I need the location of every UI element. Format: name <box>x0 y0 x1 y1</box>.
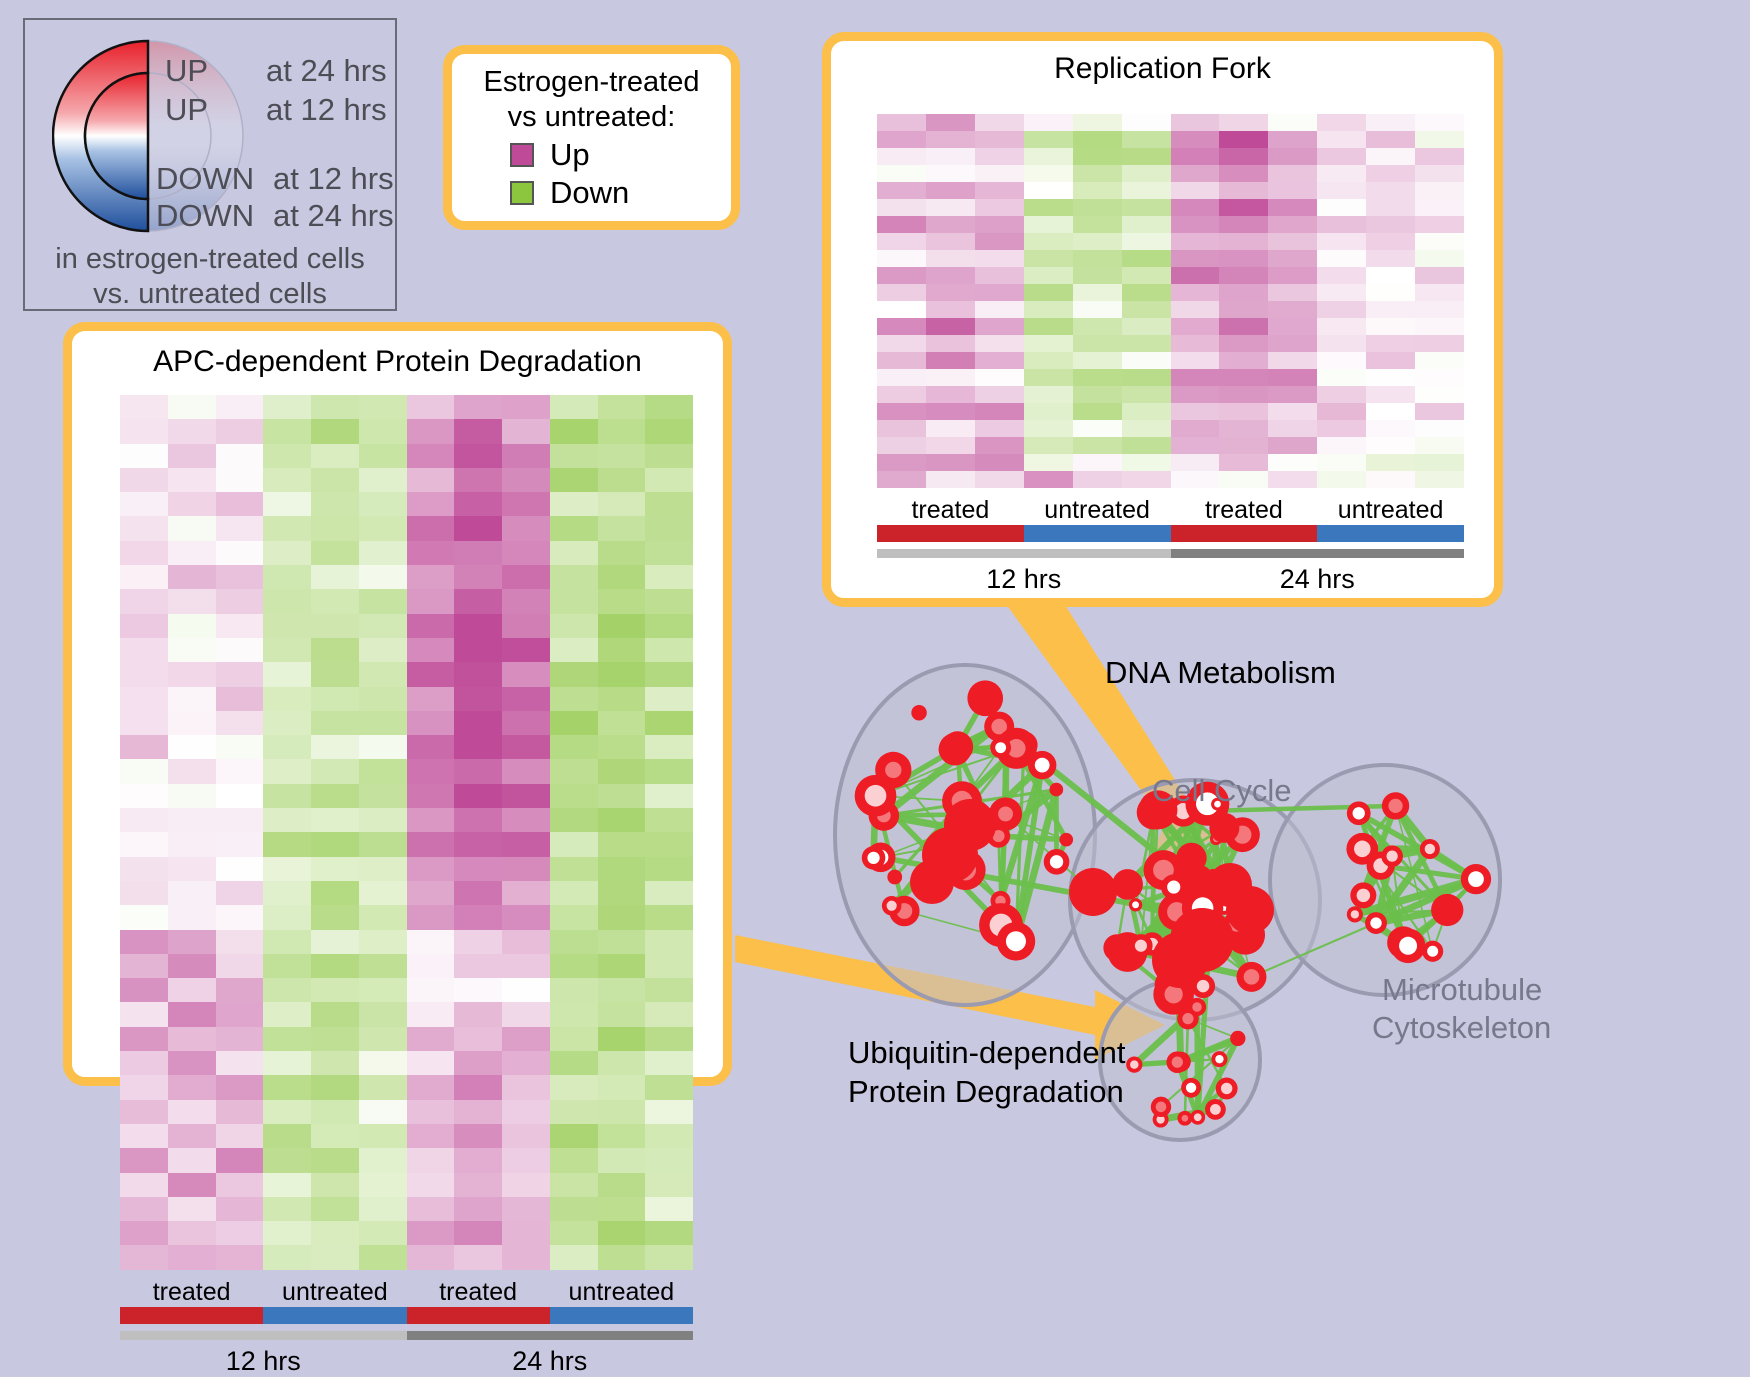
heatmap-cell <box>168 905 216 929</box>
heatmap-cell <box>168 808 216 832</box>
network-node[interactable] <box>911 705 926 720</box>
heatmap-cell <box>1366 199 1415 216</box>
heatmap-cell <box>645 881 693 905</box>
heatmap-cell <box>311 1173 359 1197</box>
legend-title-line2: vs untreated: <box>452 100 731 135</box>
heatmap-cell <box>1219 267 1268 284</box>
heatmap-cell <box>1268 369 1317 386</box>
heatmap-cell <box>263 516 311 540</box>
heatmap-cell <box>1317 454 1366 471</box>
heatmap-cell <box>645 1051 693 1075</box>
network-node[interactable] <box>1209 813 1239 843</box>
heatmap-cell <box>311 492 359 516</box>
heatmap-cell <box>550 1002 598 1026</box>
heatmap-row <box>120 905 693 929</box>
network-node[interactable] <box>1365 912 1387 934</box>
heatmap-cell <box>311 784 359 808</box>
heatmap-cell <box>263 614 311 638</box>
heatmap-cell <box>1024 352 1073 369</box>
network-node[interactable] <box>1181 1078 1201 1098</box>
heatmap-cell <box>454 492 502 516</box>
heatmap-cell <box>550 978 598 1002</box>
heatmap-cell <box>645 492 693 516</box>
heatmap-cell <box>502 759 550 783</box>
heatmap-cell <box>407 492 455 516</box>
heatmap-cell <box>1171 335 1220 352</box>
network-node[interactable] <box>862 846 886 870</box>
heatmap-cell <box>877 233 926 250</box>
heatmap-cell <box>502 468 550 492</box>
heatmap-cell <box>502 662 550 686</box>
heatmap-cell <box>120 1075 168 1099</box>
network-diagram: DNA Metabolism Cell Cycle Microtubule Cy… <box>760 610 1750 1279</box>
heatmap-cell <box>1268 148 1317 165</box>
heatmap-cell <box>263 687 311 711</box>
heatmap-cell <box>1073 301 1122 318</box>
network-node[interactable] <box>1382 792 1409 819</box>
heatmap-cell <box>598 857 646 881</box>
heatmap-cell <box>359 1245 407 1269</box>
network-node[interactable] <box>997 922 1036 961</box>
heatmap-cell <box>1317 352 1366 369</box>
heatmap-cell <box>311 832 359 856</box>
network-node[interactable] <box>939 733 972 766</box>
network-node[interactable] <box>1049 783 1063 797</box>
network-node[interactable] <box>1347 801 1371 825</box>
heatmap-row <box>877 131 1464 148</box>
heatmap-cell <box>1317 114 1366 131</box>
heatmap-cell <box>598 1197 646 1221</box>
heatmap-cell <box>645 1221 693 1245</box>
heatmap-cell <box>975 148 1024 165</box>
heatmap-cell <box>263 1148 311 1172</box>
heatmap-cell <box>645 1100 693 1124</box>
heatmap-cell <box>359 468 407 492</box>
color-key-footer-line1: in estrogen-treated cells <box>25 242 395 277</box>
heatmap-cell <box>168 1100 216 1124</box>
network-node[interactable] <box>1069 868 1117 916</box>
heatmap-cell <box>645 444 693 468</box>
heatmap-cell <box>216 784 264 808</box>
heatmap-cell <box>1317 250 1366 267</box>
heatmap-cell <box>645 1002 693 1026</box>
heatmap-cell <box>454 1173 502 1197</box>
network-node[interactable] <box>1216 1077 1238 1099</box>
heatmap-cell <box>407 1075 455 1099</box>
heatmap-cell <box>1415 352 1464 369</box>
heatmap-cell <box>1268 284 1317 301</box>
heatmap-cell <box>502 954 550 978</box>
heatmap-cell <box>359 1124 407 1148</box>
network-node[interactable] <box>1461 864 1491 894</box>
heatmap-cell <box>877 318 926 335</box>
heatmap-cell <box>120 735 168 759</box>
heatmap-cell <box>311 419 359 443</box>
heatmap-row <box>120 589 693 613</box>
network-node[interactable] <box>1059 833 1073 847</box>
heatmap-cell <box>216 687 264 711</box>
heatmap-cell <box>598 1075 646 1099</box>
network-node[interactable] <box>1188 998 1206 1016</box>
heatmap-cell <box>216 1124 264 1148</box>
heatmap-cell <box>1317 403 1366 420</box>
heatmap-cell <box>645 589 693 613</box>
heatmap-cell <box>407 565 455 589</box>
heatmap-cell <box>598 930 646 954</box>
heatmap-cell <box>1024 386 1073 403</box>
heatmap-cell <box>263 784 311 808</box>
heatmap-cell <box>877 131 926 148</box>
network-node[interactable] <box>1166 1051 1188 1073</box>
network-node[interactable] <box>1129 898 1142 911</box>
heatmap-cell <box>598 492 646 516</box>
heatmap-cell <box>120 1221 168 1245</box>
network-node[interactable] <box>875 752 911 788</box>
heatmap-cell <box>1415 318 1464 335</box>
heatmap-cell <box>311 516 359 540</box>
network-node[interactable] <box>1431 894 1463 926</box>
condition-label: untreated <box>550 1278 693 1307</box>
heatmap-cell <box>1073 199 1122 216</box>
heatmap-cell <box>454 784 502 808</box>
network-node[interactable] <box>990 737 1011 758</box>
heatmap-cell <box>877 301 926 318</box>
heatmap-cell <box>877 352 926 369</box>
heatmap-cell <box>926 182 975 199</box>
heatmap-cell <box>168 759 216 783</box>
heatmap-cell <box>502 614 550 638</box>
heatmap-cell <box>407 759 455 783</box>
heatmap-cell <box>502 1173 550 1197</box>
condition-bar-treated <box>1171 525 1318 542</box>
network-node[interactable] <box>1028 751 1056 779</box>
heatmap-cell <box>926 437 975 454</box>
heatmap-row <box>120 881 693 905</box>
heatmap-cell <box>1415 471 1464 488</box>
condition-label: untreated <box>1317 496 1464 525</box>
heatmap-cell <box>168 857 216 881</box>
heatmap-cell <box>1317 131 1366 148</box>
heatmap-cell <box>975 284 1024 301</box>
heatmap-row <box>120 1148 693 1172</box>
heatmap-cell <box>168 881 216 905</box>
heatmap-cell <box>1219 386 1268 403</box>
panel-replication-fork: Replication Fork treated untreated treat… <box>822 32 1503 607</box>
heatmap-cell <box>1366 233 1415 250</box>
heatmap-cell <box>1366 318 1415 335</box>
heatmap-cell <box>1268 318 1317 335</box>
heatmap-cell <box>645 930 693 954</box>
heatmap-cell <box>359 711 407 735</box>
heatmap-cell <box>311 1051 359 1075</box>
network-node[interactable] <box>1044 849 1070 875</box>
heatmap-cell <box>502 784 550 808</box>
heatmap-cell <box>645 1075 693 1099</box>
heatmap-cell <box>359 1075 407 1099</box>
heatmap-cell <box>1024 335 1073 352</box>
heatmap-cell <box>454 565 502 589</box>
heatmap-cell <box>877 199 926 216</box>
heatmap-row <box>120 978 693 1002</box>
key-label-up-24: UP <box>165 53 208 89</box>
heatmap-cell <box>311 759 359 783</box>
heatmap-cell <box>168 1245 216 1269</box>
heatmap-cell <box>1219 165 1268 182</box>
heatmap-cell <box>598 1148 646 1172</box>
heatmap-cell <box>975 165 1024 182</box>
network-node[interactable] <box>1226 886 1274 934</box>
heatmap-cell <box>263 1124 311 1148</box>
heatmap-cell <box>645 905 693 929</box>
heatmap-cell <box>168 930 216 954</box>
heatmap-cell <box>877 420 926 437</box>
heatmap-cell <box>1219 318 1268 335</box>
heatmap-cell <box>216 419 264 443</box>
heatmap-row <box>877 114 1464 131</box>
heatmap-cell <box>1317 148 1366 165</box>
network-label-ubiquitin-line1: Ubiquitin-dependent <box>848 1035 1126 1071</box>
network-node[interactable] <box>1112 869 1143 900</box>
network-node[interactable] <box>1230 1031 1245 1046</box>
heatmap-cell <box>216 662 264 686</box>
heatmap-cell <box>926 148 975 165</box>
heatmap-cell <box>1317 335 1366 352</box>
heatmap-cell <box>1073 114 1122 131</box>
heatmap-cell <box>263 492 311 516</box>
heatmap-cell <box>1073 386 1122 403</box>
color-key-footer-line2: vs. untreated cells <box>25 277 395 312</box>
heatmap-cell <box>1268 420 1317 437</box>
heatmap-cell <box>1317 284 1366 301</box>
heatmap-cell <box>1366 454 1415 471</box>
heatmap-cell <box>1219 301 1268 318</box>
heatmap-cell <box>407 614 455 638</box>
heatmap-cell <box>502 1002 550 1026</box>
network-node[interactable] <box>1176 843 1207 874</box>
heatmap-cell <box>454 857 502 881</box>
heatmap-cell <box>502 565 550 589</box>
heatmap-row <box>877 437 1464 454</box>
heatmap-cell <box>645 1124 693 1148</box>
heatmap-cell <box>1122 369 1171 386</box>
heatmap-cell <box>1073 403 1122 420</box>
heatmap-cell <box>311 687 359 711</box>
heatmap-cell <box>311 711 359 735</box>
network-node[interactable] <box>1391 928 1426 963</box>
heatmap-cell <box>263 857 311 881</box>
legend-item-down: Down <box>510 175 731 211</box>
heatmap-cell <box>645 1197 693 1221</box>
legend-item-up: Up <box>510 137 731 173</box>
network-node[interactable] <box>1205 1099 1226 1120</box>
heatmap-cell <box>598 808 646 832</box>
network-node[interactable] <box>1350 882 1376 908</box>
heatmap-cell <box>263 395 311 419</box>
heatmap-cell <box>168 1148 216 1172</box>
heatmap-cell <box>1415 216 1464 233</box>
heatmap-cell <box>1024 301 1073 318</box>
heatmap-cell <box>216 1051 264 1075</box>
heatmap-cell <box>1366 216 1415 233</box>
network-node[interactable] <box>1190 1110 1205 1125</box>
heatmap-cell <box>263 419 311 443</box>
heatmap-cell <box>1024 233 1073 250</box>
heatmap-cell <box>1219 369 1268 386</box>
heatmap-cell <box>1219 250 1268 267</box>
network-label-cytoskeleton: Cytoskeleton <box>1372 1010 1551 1046</box>
heatmap-cell <box>1122 182 1171 199</box>
network-node[interactable] <box>887 870 902 885</box>
heatmap-cell <box>1415 250 1464 267</box>
heatmap-cell <box>975 352 1024 369</box>
heatmap-cell <box>1415 131 1464 148</box>
network-node[interactable] <box>1151 1097 1171 1117</box>
heatmap-cell <box>1317 216 1366 233</box>
heatmap-cell <box>311 1075 359 1099</box>
network-node[interactable] <box>1347 906 1363 922</box>
heatmap-row <box>877 352 1464 369</box>
heatmap-cell <box>1122 233 1171 250</box>
heatmap-cell <box>1024 131 1073 148</box>
heatmap-cell <box>359 395 407 419</box>
panel-title-replication-fork: Replication Fork <box>831 52 1494 86</box>
network-node[interactable] <box>1129 934 1152 957</box>
legend-label-up: Up <box>550 137 590 173</box>
heatmap-cell <box>216 735 264 759</box>
heatmap-cell <box>1415 437 1464 454</box>
heatmap-cell <box>263 662 311 686</box>
heatmap-cell <box>926 301 975 318</box>
heatmap-cell <box>216 978 264 1002</box>
heatmap-cell <box>1268 233 1317 250</box>
heatmap-cell <box>359 614 407 638</box>
heatmap-cell <box>216 930 264 954</box>
heatmap-cell <box>216 832 264 856</box>
heatmap-cell <box>311 614 359 638</box>
heatmap-cell <box>1073 131 1122 148</box>
heatmap-cell <box>550 1027 598 1051</box>
heatmap-cell <box>1268 114 1317 131</box>
heatmap-cell <box>1317 318 1366 335</box>
heatmap-cell <box>926 318 975 335</box>
heatmap-cell <box>1317 420 1366 437</box>
heatmap-cell <box>120 857 168 881</box>
heatmap-cell <box>216 444 264 468</box>
network-node[interactable] <box>1126 1056 1142 1072</box>
heatmap-cell <box>598 905 646 929</box>
heatmap-cell <box>120 419 168 443</box>
heatmap-cell <box>216 1221 264 1245</box>
heatmap-cell <box>1219 131 1268 148</box>
network-node[interactable] <box>1211 1051 1227 1067</box>
heatmap-cell <box>407 1221 455 1245</box>
network-node[interactable] <box>1161 874 1186 899</box>
heatmap-cell <box>120 1100 168 1124</box>
time-bars-replication-fork <box>877 549 1464 558</box>
heatmap-cell <box>359 954 407 978</box>
heatmap-cell <box>550 516 598 540</box>
condition-bars-replication-fork <box>877 525 1464 542</box>
heatmap-cell <box>407 444 455 468</box>
heatmap-cell <box>1122 131 1171 148</box>
heatmap-cell <box>120 978 168 1002</box>
heatmap-cell <box>359 735 407 759</box>
heatmap-cell <box>263 954 311 978</box>
heatmap-cell <box>454 1051 502 1075</box>
network-node[interactable] <box>1422 941 1443 962</box>
network-node[interactable] <box>1177 1111 1192 1126</box>
heatmap-cell <box>359 419 407 443</box>
heatmap-cell <box>168 1027 216 1051</box>
heatmap-cell <box>120 784 168 808</box>
heatmap-cell <box>645 468 693 492</box>
heatmap-cell <box>550 614 598 638</box>
heatmap-cell <box>502 1221 550 1245</box>
heatmap-cell <box>1219 335 1268 352</box>
heatmap-row <box>120 1221 693 1245</box>
heatmap-cell <box>975 250 1024 267</box>
heatmap-cell <box>550 1075 598 1099</box>
heatmap-cell <box>1024 471 1073 488</box>
network-node[interactable] <box>910 860 954 904</box>
heatmap-cell <box>1415 267 1464 284</box>
heatmap-row <box>120 541 693 565</box>
heatmap-cell <box>120 1148 168 1172</box>
heatmap-cell <box>407 905 455 929</box>
heatmap-cell <box>216 541 264 565</box>
heatmap-cell <box>1415 369 1464 386</box>
heatmap-cell <box>216 1100 264 1124</box>
network-node[interactable] <box>1152 932 1208 988</box>
heatmap-cell <box>311 1124 359 1148</box>
heatmap-cell <box>454 662 502 686</box>
heatmap-cell <box>502 589 550 613</box>
network-node[interactable] <box>1420 839 1440 859</box>
heatmap-cell <box>1122 437 1171 454</box>
heatmap-cell <box>1268 267 1317 284</box>
heatmap-cell <box>120 395 168 419</box>
time-bar-12hrs <box>877 549 1171 558</box>
heatmap-cell <box>1317 301 1366 318</box>
heatmap-cell <box>407 784 455 808</box>
network-node[interactable] <box>882 896 902 916</box>
heatmap-cell <box>645 395 693 419</box>
heatmap-cell <box>263 589 311 613</box>
heatmap-cell <box>407 1245 455 1269</box>
heatmap-cell <box>1171 148 1220 165</box>
heatmap-cell <box>359 759 407 783</box>
network-node[interactable] <box>1381 845 1403 867</box>
heatmap-cell <box>1122 471 1171 488</box>
heatmap-cell <box>1415 284 1464 301</box>
condition-labels-replication-fork: treated untreated treated untreated <box>877 496 1464 525</box>
network-label-ubiquitin-line2: Protein Degradation <box>848 1074 1124 1110</box>
heatmap-row <box>877 369 1464 386</box>
heatmap-cell <box>1024 165 1073 182</box>
heatmap-cell <box>359 589 407 613</box>
heatmap-cell <box>216 1245 264 1269</box>
network-node[interactable] <box>1346 833 1378 865</box>
heatmap-cell <box>598 419 646 443</box>
network-node[interactable] <box>967 680 1003 716</box>
heatmap-cell <box>1122 267 1171 284</box>
heatmap-cell <box>407 1124 455 1148</box>
heatmap-cell <box>1024 114 1073 131</box>
heatmap-cell <box>1366 301 1415 318</box>
heatmap-cell <box>975 182 1024 199</box>
network-node[interactable] <box>1236 962 1266 992</box>
heatmap-cell <box>454 638 502 662</box>
